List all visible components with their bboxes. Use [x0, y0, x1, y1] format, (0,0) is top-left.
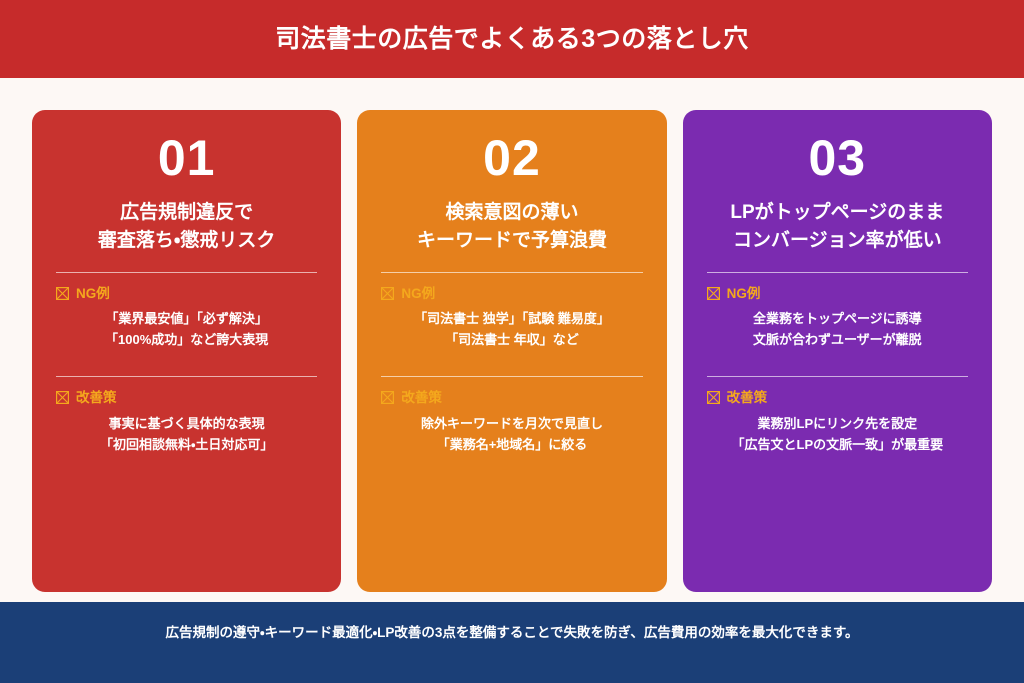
card-divider-mid — [707, 376, 968, 377]
card-divider-top — [56, 272, 317, 273]
card-number: 03 — [707, 132, 968, 185]
section-gap — [381, 354, 642, 372]
footer-banner: 広告規制の遵守・キーワード最適化・LP改善の3点を整備することで失敗を防ぎ、広告… — [0, 602, 1024, 683]
fix-section: 改善策 事実に基づく具体的な表現 「初回相談無料・土日対応可」 — [56, 391, 317, 455]
card-number: 02 — [381, 132, 642, 185]
ng-section-body: 「司法書士 独学」「試験 難易度」 「司法書士 年収」など — [381, 308, 642, 350]
fix-section-label: 改善策 — [381, 391, 642, 405]
card-divider-top — [381, 272, 642, 273]
card-divider-mid — [56, 376, 317, 377]
ng-section-body: 「業界最安値」「必ず解決」 「100%成功」など誇大表現 — [56, 308, 317, 350]
pitfall-card-01: 01 広告規制違反で 審査落ち・懲戒リスク NG例 「業界最安値」「必ず解決」 … — [32, 110, 341, 592]
fix-section: 改善策 除外キーワードを月次で見直し 「業務名+地域名」に絞る — [381, 391, 642, 455]
ng-section-body: 全業務をトップページに誘導 文脈が合わずユーザーが離脱 — [707, 308, 968, 350]
fix-section: 改善策 業務別LPにリンク先を設定 「広告文とLPの文脈一致」が最重要 — [707, 391, 968, 455]
ng-section: NG例 「業界最安値」「必ず解決」 「100%成功」など誇大表現 — [56, 287, 317, 351]
card-divider-top — [707, 272, 968, 273]
missing-glyph-box-icon — [56, 391, 69, 404]
card-heading: 検索意図の薄い キーワードで予算浪費 — [381, 199, 642, 256]
footer-summary-text: 広告規制の遵守・キーワード最適化・LP改善の3点を整備することで失敗を防ぎ、広告… — [165, 624, 858, 643]
ng-label-text: NG例 — [727, 287, 761, 301]
ng-label-text: NG例 — [76, 287, 110, 301]
section-gap — [707, 354, 968, 372]
section-gap — [56, 354, 317, 372]
ng-section-label: NG例 — [56, 287, 317, 301]
ng-section-label: NG例 — [381, 287, 642, 301]
ng-section: NG例 全業務をトップページに誘導 文脈が合わずユーザーが離脱 — [707, 287, 968, 351]
fix-label-text: 改善策 — [76, 391, 117, 405]
fix-label-text: 改善策 — [727, 391, 768, 405]
header-banner: 司法書士の広告でよくある3つの落とし穴 — [0, 0, 1024, 78]
missing-glyph-box-icon — [707, 287, 720, 300]
card-spacer — [56, 459, 317, 568]
card-heading: LPがトップページのまま コンバージョン率が低い — [707, 199, 968, 256]
fix-section-body: 事実に基づく具体的な表現 「初回相談無料・土日対応可」 — [56, 413, 317, 455]
card-divider-mid — [381, 376, 642, 377]
fix-label-text: 改善策 — [401, 391, 442, 405]
fix-section-label: 改善策 — [56, 391, 317, 405]
ng-section-label: NG例 — [707, 287, 968, 301]
card-spacer — [707, 459, 968, 568]
pitfall-card-list: 01 広告規制違反で 審査落ち・懲戒リスク NG例 「業界最安値」「必ず解決」 … — [0, 78, 1024, 602]
card-heading: 広告規制違反で 審査落ち・懲戒リスク — [56, 199, 317, 256]
card-number: 01 — [56, 132, 317, 185]
pitfall-card-03: 03 LPがトップページのまま コンバージョン率が低い NG例 全業務をトップペ… — [683, 110, 992, 592]
fix-section-body: 業務別LPにリンク先を設定 「広告文とLPの文脈一致」が最重要 — [707, 413, 968, 455]
missing-glyph-box-icon — [707, 391, 720, 404]
infographic-slide: 司法書士の広告でよくある3つの落とし穴 01 広告規制違反で 審査落ち・懲戒リス… — [0, 0, 1024, 683]
missing-glyph-box-icon — [381, 287, 394, 300]
fix-section-label: 改善策 — [707, 391, 968, 405]
ng-section: NG例 「司法書士 独学」「試験 難易度」 「司法書士 年収」など — [381, 287, 642, 351]
pitfall-card-02: 02 検索意図の薄い キーワードで予算浪費 NG例 「司法書士 独学」「試験 難… — [357, 110, 666, 592]
missing-glyph-box-icon — [56, 287, 69, 300]
page-title: 司法書士の広告でよくある3つの落とし穴 — [275, 24, 748, 54]
missing-glyph-box-icon — [381, 391, 394, 404]
card-spacer — [381, 459, 642, 568]
ng-label-text: NG例 — [401, 287, 435, 301]
fix-section-body: 除外キーワードを月次で見直し 「業務名+地域名」に絞る — [381, 413, 642, 455]
